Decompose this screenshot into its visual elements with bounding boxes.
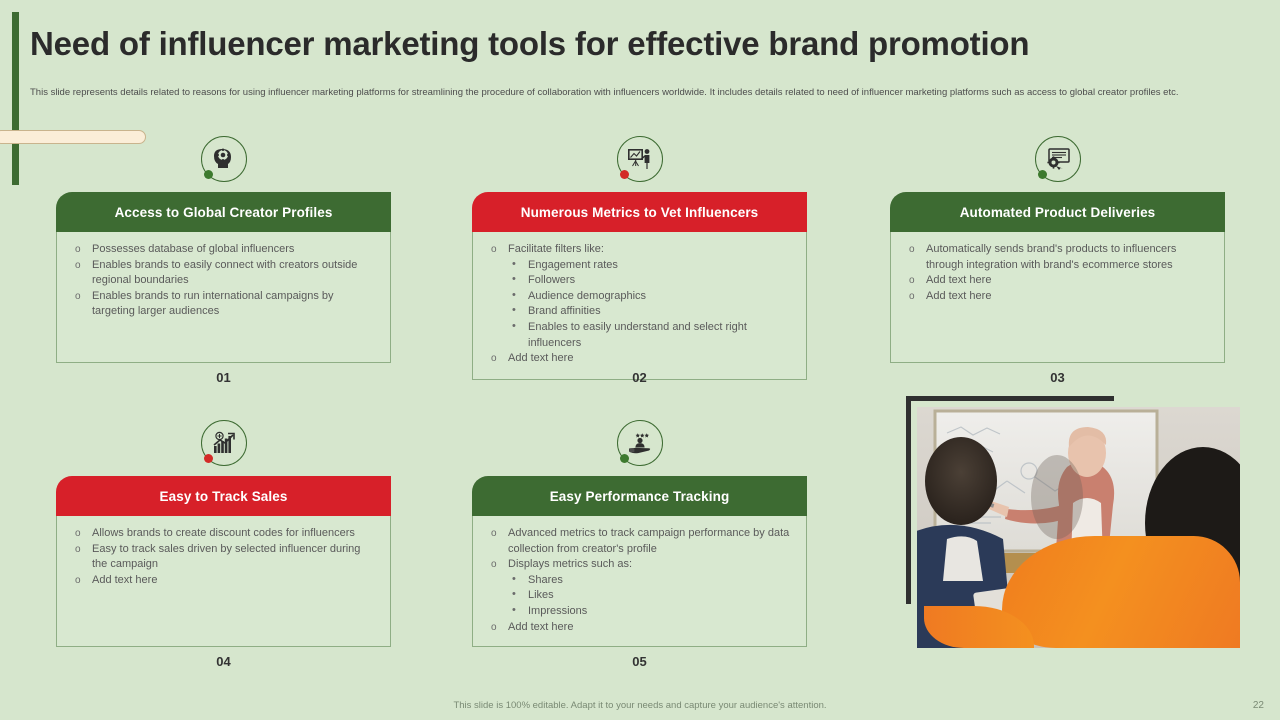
bullet-text: Add text here (926, 274, 991, 286)
sub-bullet-item: Likes (508, 588, 794, 604)
page-title: Need of influencer marketing tools for e… (30, 24, 1240, 64)
presentation-board-icon-svg (625, 144, 655, 174)
bullet-item: Add text here (69, 573, 378, 589)
slide-root: Need of influencer marketing tools for e… (0, 0, 1280, 720)
photo-frame-left (906, 396, 911, 604)
sub-bullet-item: Followers (508, 273, 794, 289)
bullet-text: Easy to track sales driven by selected i… (92, 543, 360, 571)
bullet-text: Add text here (926, 290, 991, 302)
accent-dot-icon (620, 454, 629, 463)
card-body-04: Allows brands to create discount codes f… (56, 516, 391, 647)
growth-chart-icon-svg (209, 428, 239, 458)
svg-text:5: 5 (215, 158, 217, 162)
accent-dot-icon (1038, 170, 1047, 179)
bullet-text: Enables brands to run international camp… (92, 290, 334, 318)
accent-dot-icon (204, 170, 213, 179)
bullet-list: Allows brands to create discount codes f… (69, 526, 378, 588)
accent-pill-shape (0, 130, 146, 144)
bullet-text: Add text here (508, 352, 573, 364)
photo-frame-top (906, 396, 1114, 401)
icon-badge-04 (201, 420, 247, 466)
icon-badge-05 (617, 420, 663, 466)
icon-badge-01: 75 (201, 136, 247, 182)
bullet-text: Automatically sends brand's products to … (926, 243, 1176, 271)
bullet-item: Possesses database of global influencers (69, 242, 378, 258)
bullet-item: Add text here (485, 620, 794, 636)
bullet-text: Advanced metrics to track campaign perfo… (508, 527, 789, 555)
sub-bullet-item: Engagement rates (508, 258, 794, 274)
footer-note: This slide is 100% editable. Adapt it to… (0, 700, 1280, 711)
bullet-item: Add text here (903, 289, 1212, 305)
bullet-list: Possesses database of global influencers… (69, 242, 378, 320)
card-number-01: 01 (56, 370, 391, 385)
card-number-02: 02 (472, 370, 807, 385)
card-number-04: 04 (56, 654, 391, 669)
page-number: 22 (1253, 700, 1264, 711)
card-title-04: Easy to Track Sales (56, 476, 391, 516)
bullet-text: Add text here (92, 574, 157, 586)
bullet-item: Add text here (903, 273, 1212, 289)
bullet-item: Advanced metrics to track campaign perfo… (485, 526, 794, 557)
sub-bullet-item: Enables to easily understand and select … (508, 320, 794, 351)
bullet-list: Advanced metrics to track campaign perfo… (485, 526, 794, 635)
sub-bullet-item: Audience demographics (508, 289, 794, 305)
card-number-03: 03 (890, 370, 1225, 385)
bullet-item: Allows brands to create discount codes f… (69, 526, 378, 542)
bullet-text: Displays metrics such as: (508, 558, 632, 570)
card-body-02: Facilitate filters like:Engagement rates… (472, 232, 807, 380)
accent-dot-icon (204, 454, 213, 463)
hand-rating-icon-svg (625, 428, 655, 458)
bullet-text: Possesses database of global influencers (92, 243, 294, 255)
card-body-03: Automatically sends brand's products to … (890, 232, 1225, 363)
icon-badge-03 (1035, 136, 1081, 182)
accent-dot-icon (620, 170, 629, 179)
bullet-item: Automatically sends brand's products to … (903, 242, 1212, 273)
bullet-text: Allows brands to create discount codes f… (92, 527, 355, 539)
bullet-item: Easy to track sales driven by selected i… (69, 542, 378, 573)
bullet-text: Add text here (508, 621, 573, 633)
card-title-02: Numerous Metrics to Vet Influencers (472, 192, 807, 232)
bullet-item: Facilitate filters like:Engagement rates… (485, 242, 794, 351)
card-body-05: Advanced metrics to track campaign perfo… (472, 516, 807, 647)
sub-bullet-item: Brand affinities (508, 304, 794, 320)
sub-bullet-list: SharesLikesImpressions (508, 573, 794, 620)
card-title-03: Automated Product Deliveries (890, 192, 1225, 232)
bullet-item: Enables brands to run international camp… (69, 289, 378, 320)
accent-vertical-bar (12, 12, 19, 185)
card-title-05: Easy Performance Tracking (472, 476, 807, 516)
bullet-item: Add text here (485, 351, 794, 367)
sub-bullet-list: Engagement ratesFollowersAudience demogr… (508, 258, 794, 352)
bullet-text: Enables brands to easily connect with cr… (92, 259, 357, 287)
bullet-list: Automatically sends brand's products to … (903, 242, 1212, 304)
icon-badge-02 (617, 136, 663, 182)
orange-blob-decoration (1002, 536, 1240, 648)
bullet-text: Facilitate filters like: (508, 243, 604, 255)
sub-bullet-item: Shares (508, 573, 794, 589)
bullet-list: Facilitate filters like:Engagement rates… (485, 242, 794, 367)
card-title-01: Access to Global Creator Profiles (56, 192, 391, 232)
card-number-05: 05 (472, 654, 807, 669)
sub-bullet-item: Impressions (508, 604, 794, 620)
bullet-item: Displays metrics such as:SharesLikesImpr… (485, 557, 794, 619)
certificate-gear-icon-svg (1043, 144, 1073, 174)
bullet-item: Enables brands to easily connect with cr… (69, 258, 378, 289)
page-subtitle: This slide represents details related to… (30, 86, 1248, 100)
card-body-01: Possesses database of global influencers… (56, 232, 391, 363)
photo-block (900, 396, 1240, 648)
head-gear-icon-svg: 75 (209, 144, 239, 174)
